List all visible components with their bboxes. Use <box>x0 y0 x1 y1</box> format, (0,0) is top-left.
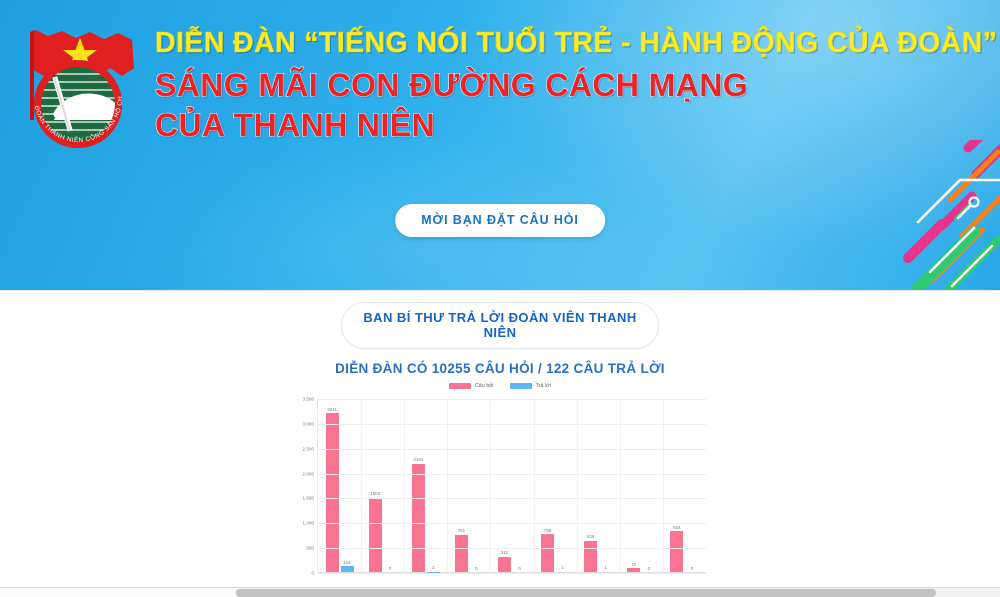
chart-y-tick-label: 2.000 <box>303 471 319 476</box>
decorative-corner-graphic <box>890 140 1000 290</box>
chart-bar-question[interactable]: 629 <box>584 541 597 572</box>
chart-bar-question[interactable]: 1503 <box>369 498 382 572</box>
chart-y-tick-label: 500 <box>306 546 318 551</box>
horizontal-scrollbar[interactable] <box>0 587 1000 597</box>
chart-gridline: 3.500 <box>318 399 706 400</box>
chart-bar-group: 720 <box>620 399 663 572</box>
scrollbar-thumb[interactable] <box>236 589 936 597</box>
chart-bar-group: 3211118 <box>318 399 361 572</box>
chart-gridline: 500 <box>318 548 706 549</box>
chart-plot-area: 3211118150302194275103120759162917208240… <box>317 399 706 573</box>
chart-bar-fill <box>498 557 511 572</box>
chart-bar-value-label: 72 <box>631 562 636 567</box>
chart-category-divider <box>490 399 491 573</box>
bar-chart: 3211118150302194275103120759162917208240… <box>290 393 710 583</box>
forum-summary-text: DIỄN ĐÀN CÓ 10255 CÂU HỎI / 122 CÂU TRẢ … <box>0 361 1000 376</box>
chart-category-divider <box>361 399 362 573</box>
hero-title-line-2: SÁNG MÃI CON ĐƯỜNG CÁCH MẠNG <box>155 65 997 105</box>
chart-bar-fill <box>341 566 354 572</box>
chart-bar-value-label: 0 <box>691 566 693 571</box>
chart-bar-fill <box>670 531 683 572</box>
legend-item-question[interactable]: Câu hỏi <box>449 383 494 389</box>
chart-gridline: 1.000 <box>318 523 706 524</box>
chart-bar-answer[interactable]: 118 <box>341 566 354 572</box>
chart-bar-value-label: 118 <box>344 560 351 565</box>
legend-swatch-answer <box>510 383 532 389</box>
chart-bar-value-label: 2 <box>432 565 434 570</box>
chart-category-divider <box>404 399 405 573</box>
section-title-pill[interactable]: BAN BÍ THƯ TRẢ LỜI ĐOÀN VIÊN THANH NIÊN <box>341 302 659 349</box>
chart-bar-value-label: 824 <box>673 525 680 530</box>
chart-bar-question[interactable]: 751 <box>455 535 468 572</box>
youth-union-emblem-icon: ĐOÀN THANH NIÊN CỘNG SẢN HỒ CHÍ MINH <box>14 16 142 156</box>
chart-bar-question[interactable]: 2194 <box>412 464 425 572</box>
chart-bar-fill <box>369 498 382 572</box>
ask-question-button[interactable]: MỜI BẠN ĐẶT CÂU HỎI <box>395 204 605 237</box>
legend-label-question: Câu hỏi <box>475 383 494 389</box>
chart-bar-question[interactable]: 759 <box>541 534 554 572</box>
chart-gridline: 1.500 <box>318 498 706 499</box>
chart-bar-value-label: 629 <box>587 534 594 539</box>
chart-category-divider <box>534 399 535 573</box>
chart-bar-value-label: 751 <box>458 528 465 533</box>
chart-y-tick-label: 2.500 <box>303 446 319 451</box>
legend-item-answer[interactable]: Trả lời <box>510 383 551 389</box>
chart-bar-group: 6291 <box>577 399 620 572</box>
chart-category-divider <box>577 399 578 573</box>
chart-bar-value-label: 312 <box>501 550 508 555</box>
chart-bar-fill <box>412 464 425 572</box>
chart-bar-group: 7510 <box>447 399 490 572</box>
hero-title-line-3: CỦA THANH NIÊN <box>155 105 997 145</box>
content-area: BAN BÍ THƯ TRẢ LỜI ĐOÀN VIÊN THANH NIÊN … <box>0 290 1000 597</box>
chart-bars-container: 3211118150302194275103120759162917208240 <box>318 399 706 572</box>
chart-category-divider <box>663 399 664 573</box>
chart-gridline: 2.500 <box>318 449 706 450</box>
chart-bar-group: 8240 <box>663 399 706 572</box>
chart-bar-question[interactable]: 312 <box>498 557 511 572</box>
chart-bar-fill <box>627 568 640 572</box>
hero-titles: DIỄN ĐÀN “TIẾNG NÓI TUỔI TRẺ - HÀNH ĐỘNG… <box>155 28 997 145</box>
chart-bar-value-label: 1 <box>561 565 563 570</box>
hero-title-line-1: DIỄN ĐÀN “TIẾNG NÓI TUỔI TRẺ - HÀNH ĐỘNG… <box>155 28 997 59</box>
chart-gridline: 0 <box>318 573 706 574</box>
chart-bar-fill <box>455 535 468 572</box>
chart-bar-fill <box>584 541 597 572</box>
chart-bar-value-label: 0 <box>648 566 650 571</box>
chart-bar-fill <box>541 534 554 572</box>
chart-y-tick-label: 0 <box>311 571 318 576</box>
chart-gridline: 3.000 <box>318 424 706 425</box>
chart-y-tick-label: 1.000 <box>303 521 319 526</box>
chart-legend: Câu hỏi Trả lời <box>0 383 1000 389</box>
chart-bar-value-label: 759 <box>544 528 551 533</box>
chart-bar-group: 3120 <box>490 399 533 572</box>
chart-bar-value-label: 1503 <box>370 491 380 496</box>
chart-category-divider <box>620 399 621 573</box>
legend-label-answer: Trả lời <box>536 383 551 389</box>
scrollbar-track[interactable] <box>0 588 236 597</box>
chart-bar-question[interactable]: 72 <box>627 568 640 572</box>
hero-banner: ĐOÀN THANH NIÊN CỘNG SẢN HỒ CHÍ MINH DIỄ… <box>0 0 1000 290</box>
chart-gridline: 2.000 <box>318 474 706 475</box>
chart-y-tick-label: 1.500 <box>303 496 319 501</box>
chart-bar-value-label: 1 <box>604 565 606 570</box>
chart-bar-value-label: 3211 <box>327 407 336 412</box>
chart-bar-group: 21942 <box>404 399 447 572</box>
chart-bar-value-label: 2194 <box>413 457 423 462</box>
chart-bar-value-label: 0 <box>518 566 520 571</box>
chart-y-tick-label: 3.500 <box>303 397 319 402</box>
chart-bar-group: 7591 <box>534 399 577 572</box>
chart-y-tick-label: 3.000 <box>303 421 319 426</box>
chart-category-divider <box>447 399 448 573</box>
chart-bar-value-label: 0 <box>389 566 391 571</box>
chart-bar-group: 15030 <box>361 399 404 572</box>
legend-swatch-question <box>449 383 471 389</box>
chart-bar-question[interactable]: 824 <box>670 531 683 572</box>
chart-bar-value-label: 0 <box>475 566 477 571</box>
